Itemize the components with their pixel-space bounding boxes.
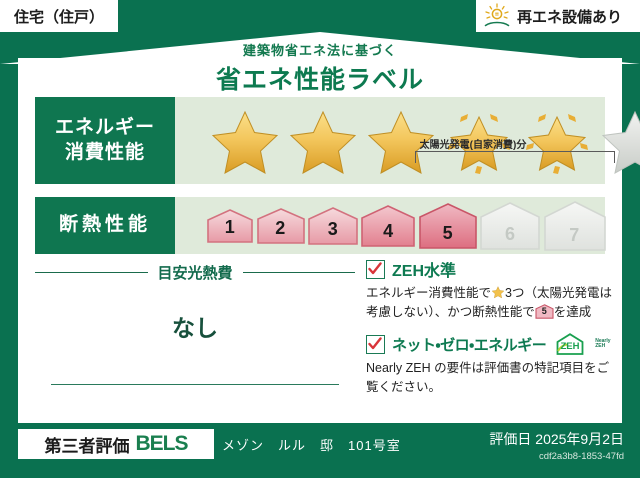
star-icon: [491, 285, 505, 299]
insulation-performance-label: 断熱性能: [35, 197, 175, 254]
insulation-label: 断熱性能: [59, 213, 151, 237]
utility-cost-bottom-rule: [51, 384, 339, 385]
insulation-level-3: 3: [308, 207, 357, 245]
bels-badge-en: BELS: [135, 432, 187, 456]
zeh-logo-subtext-line2: ZEH: [595, 343, 605, 349]
zeh-house-logo-icon: ZEH: [553, 332, 587, 356]
zeh-desc-part1: エネルギー消費性能で: [366, 286, 491, 300]
insulation-badge-value: 5: [535, 304, 554, 319]
star-filled-3: [363, 105, 439, 177]
energy-label-line2: 消費性能: [65, 141, 145, 165]
zeh-logo-subtext: Nearly ZEH: [595, 339, 610, 350]
svg-text:ZEH: ZEH: [561, 341, 580, 352]
utility-cost-title: 目安光熱費: [148, 262, 243, 283]
star-empty-6: [597, 105, 640, 177]
heading-rule-left: [35, 272, 148, 273]
net-zero-energy-block: ネット・ゼロ・エネルギー ZEH Nearly ZEH Nearly ZEH の…: [366, 332, 612, 397]
energy-star-rating: [185, 97, 605, 184]
star-filled-solar-4: [441, 105, 517, 177]
zeh-standard-title: ZEH水準: [392, 257, 456, 281]
bels-energy-label: 住宅（住戸）: [0, 0, 640, 478]
insulation-level-7-value: 7: [569, 225, 579, 251]
insulation-badge-icon: 5: [535, 304, 554, 319]
insulation-level-scale: 1 2 3: [185, 197, 605, 254]
evaluation-info: 評価日 2025年9月2日 cdf2a3b8-1853-47fd: [489, 429, 624, 462]
energy-label-line1: エネルギー: [55, 116, 155, 140]
zeh-standard-title-row: ZEH水準: [366, 257, 612, 281]
heading-rule-right: [243, 272, 356, 273]
property-name: メゾン ルル 邸 101号室: [222, 435, 401, 454]
document-id: cdf2a3b8-1853-47fd: [489, 451, 624, 462]
label-footer: 第三者評価 BELS メゾン ルル 邸 101号室 評価日 2025年9月2日 …: [0, 423, 640, 478]
zeh-desc-part3: を達成: [554, 305, 592, 319]
insulation-level-6: 6: [480, 202, 539, 250]
checkbox-checked-icon: [366, 260, 385, 279]
evaluation-date: 評価日 2025年9月2日: [489, 429, 624, 449]
net-zero-description: Nearly ZEH の要件は評価書の特記項目をご覧ください。: [366, 359, 612, 397]
checkbox-checked-icon-2: [366, 335, 385, 354]
utility-cost-value: なし: [35, 309, 355, 343]
insulation-level-4-value: 4: [383, 221, 393, 247]
energy-performance-label: エネルギー 消費性能: [35, 97, 175, 184]
label-subtitle: 建築物省エネ法に基づく: [18, 40, 622, 59]
sun-solar-icon: [482, 3, 512, 29]
insulation-level-4: 4: [361, 205, 414, 247]
star-filled-1: [207, 105, 283, 177]
label-body: 建築物省エネ法に基づく 省エネ性能ラベル エネルギー 消費性能: [18, 58, 622, 423]
zeh-standard-block: ZEH水準 エネルギー消費性能で3つ（太陽光発電は考慮しない）、かつ断熱性能で5…: [366, 257, 612, 322]
insulation-level-5: 5: [419, 203, 476, 249]
star-filled-2: [285, 105, 361, 177]
zeh-standard-description: エネルギー消費性能で3つ（太陽光発電は考慮しない）、かつ断熱性能で5を達成: [366, 284, 612, 322]
energy-performance-row: エネルギー 消費性能: [35, 97, 605, 184]
renewable-equipment-tag: 再エネ設備あり: [476, 0, 640, 32]
insulation-level-2-value: 2: [275, 218, 285, 244]
label-header: 住宅（住戸）: [0, 0, 640, 34]
insulation-level-6-value: 6: [505, 224, 515, 250]
insulation-level-7: 7: [544, 201, 605, 251]
insulation-level-1: 1: [207, 209, 253, 243]
criteria-list: ZEH水準 エネルギー消費性能で3つ（太陽光発電は考慮しない）、かつ断熱性能で5…: [366, 257, 612, 407]
insulation-level-2: 2: [257, 208, 304, 244]
insulation-level-1-value: 1: [225, 217, 235, 243]
net-zero-title: ネット・ゼロ・エネルギー: [392, 334, 546, 355]
building-type-tag: 住宅（住戸）: [0, 0, 118, 32]
utility-cost-box: 目安光熱費 なし: [35, 263, 355, 391]
building-type-label: 住宅（住戸）: [14, 6, 104, 27]
bels-badge-jp: 第三者評価: [44, 432, 129, 457]
net-zero-title-row: ネット・ゼロ・エネルギー ZEH Nearly ZEH: [366, 332, 612, 356]
insulation-performance-row: 断熱性能 1 2: [35, 197, 605, 254]
label-title: 省エネ性能ラベル: [18, 60, 622, 96]
utility-cost-heading: 目安光熱費: [35, 263, 355, 281]
bels-badge: 第三者評価 BELS: [18, 429, 214, 459]
insulation-level-3-value: 3: [328, 219, 338, 245]
renewable-equipment-label: 再エネ設備あり: [517, 6, 622, 27]
solar-range-bracket: [415, 151, 615, 163]
insulation-level-5-value: 5: [443, 223, 453, 249]
star-filled-solar-5: [519, 105, 595, 177]
